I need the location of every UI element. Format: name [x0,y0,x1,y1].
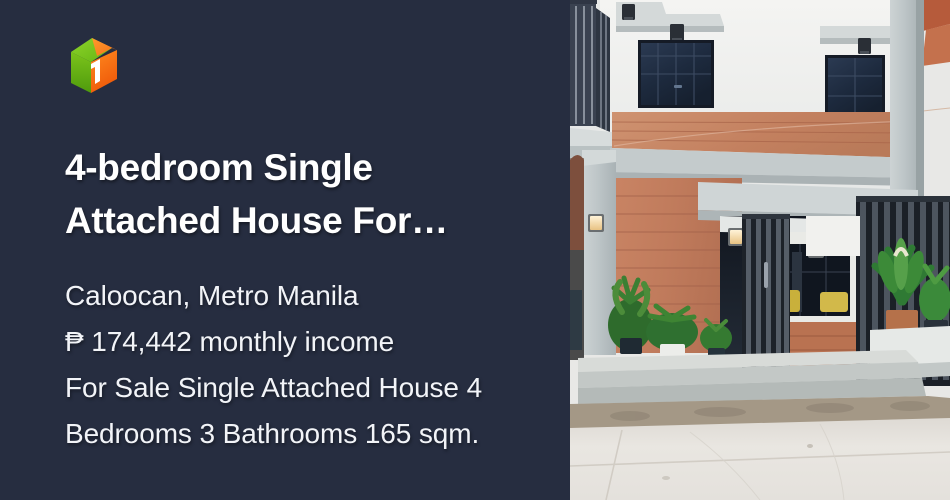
listing-details: Caloocan, Metro Manila ₱ 174,442 monthly… [65,273,534,457]
listing-card: 4-bedroom Single Attached House For… Cal… [0,0,950,500]
listing-location: Caloocan, Metro Manila [65,273,534,319]
listing-info-panel: 4-bedroom Single Attached House For… Cal… [0,0,570,500]
listing-title: 4-bedroom Single Attached House For… [65,141,495,247]
house-number-one-logo-icon[interactable] [65,34,123,96]
listing-description-line-1: For Sale Single Attached House 4 [65,365,534,411]
property-exterior-photo [570,0,950,500]
listing-description-line-2: Bedrooms 3 Bathrooms 165 sqm. [65,411,534,457]
listing-price: ₱ 174,442 monthly income [65,319,534,365]
